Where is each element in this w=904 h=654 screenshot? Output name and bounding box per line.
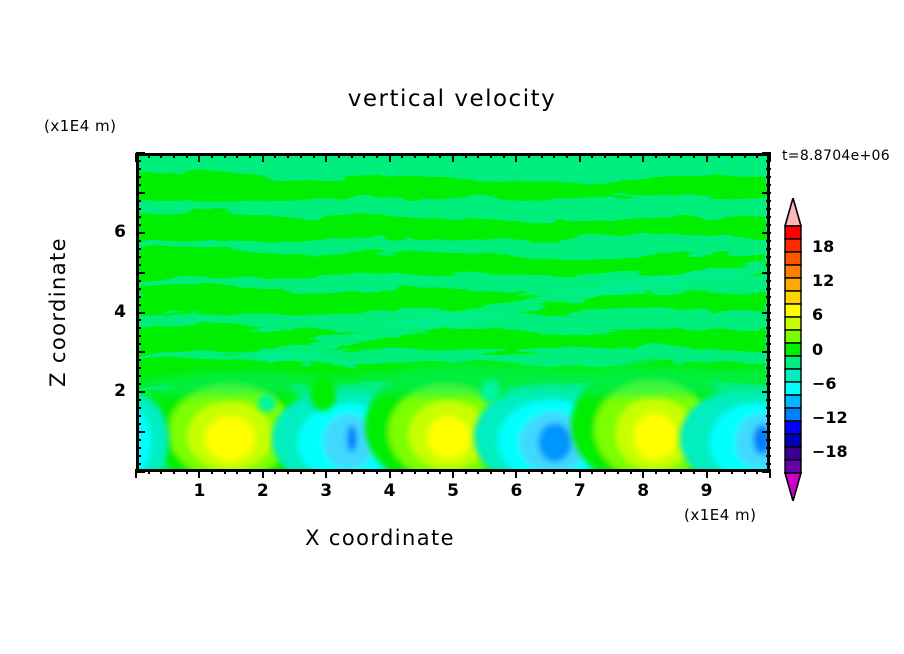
y-tick-minor (766, 248, 771, 250)
y-tick-major (762, 431, 771, 433)
y-tick-minor (766, 423, 771, 425)
x-tick-major (262, 153, 264, 162)
colorbar-band (785, 265, 801, 278)
x-tick-minor (731, 469, 733, 474)
x-tick-minor (718, 153, 720, 158)
y-tick-minor (766, 160, 771, 162)
colorbar-tick-label: 6 (812, 305, 872, 324)
x-tick-minor (477, 469, 479, 474)
colorbar-band (785, 330, 801, 343)
y-tick-minor (766, 327, 771, 329)
colorbar-band (785, 317, 801, 330)
x-unit-label: (x1E4 m) (684, 506, 757, 524)
y-tick-minor (766, 359, 771, 361)
x-tick-minor (338, 469, 340, 474)
colorbar-band (785, 226, 801, 239)
x-tick-major (389, 153, 391, 162)
y-tick-minor (766, 216, 771, 218)
x-tick-major (706, 469, 708, 478)
y-tick-minor (136, 335, 141, 337)
figure-canvas: vertical velocity (x1E4 m) t=8.8704e+06 (0, 0, 904, 654)
colorbar-band (785, 291, 801, 304)
y-tick-minor (136, 184, 141, 186)
x-tick-minor (528, 153, 530, 158)
y-tick-major (762, 351, 771, 353)
y-tick-minor (136, 240, 141, 242)
y-tick-minor (136, 327, 141, 329)
x-tick-minor (427, 469, 429, 474)
x-tick-label: 2 (243, 481, 283, 501)
colorbar-tick-label: 0 (812, 340, 872, 359)
x-tick-minor (465, 153, 467, 158)
colorbar-band (785, 239, 801, 252)
x-tick-major (515, 469, 517, 478)
page-title: vertical velocity (0, 86, 904, 112)
y-tick-minor (136, 224, 141, 226)
x-tick-label: 3 (306, 481, 346, 501)
y-axis-ticks-left (136, 153, 146, 472)
x-tick-minor (490, 469, 492, 474)
y-tick-minor (136, 367, 141, 369)
colorbar-band (785, 252, 801, 265)
x-tick-major (198, 469, 200, 478)
x-tick-minor (313, 153, 315, 158)
y-tick-minor (136, 200, 141, 202)
x-tick-minor (756, 469, 758, 474)
x-tick-minor (439, 153, 441, 158)
y-tick-minor (766, 256, 771, 258)
x-tick-minor (376, 153, 378, 158)
x-tick-minor (363, 469, 365, 474)
x-tick-label: 8 (623, 481, 663, 501)
y-tick-major (762, 232, 771, 234)
x-tick-label: 5 (433, 481, 473, 501)
x-tick-minor (300, 469, 302, 474)
y-tick-minor (766, 383, 771, 385)
y-tick-minor (766, 288, 771, 290)
x-tick-minor (680, 469, 682, 474)
y-tick-major (136, 152, 145, 154)
x-tick-minor (224, 469, 226, 474)
x-tick-major (452, 469, 454, 478)
x-tick-minor (693, 153, 695, 158)
y-axis-ticks-right (761, 153, 771, 472)
x-axis-ticks-bottom (136, 469, 770, 479)
x-tick-label: 9 (687, 481, 727, 501)
x-tick-minor (287, 153, 289, 158)
colorbar-under-cap (785, 473, 801, 501)
x-tick-minor (160, 153, 162, 158)
y-tick-minor (766, 343, 771, 345)
y-tick-minor (766, 208, 771, 210)
y-tick-minor (766, 319, 771, 321)
colorbar-band (785, 278, 801, 291)
y-tick-minor (136, 256, 141, 258)
x-tick-minor (414, 469, 416, 474)
y-tick-minor (136, 176, 141, 178)
x-tick-minor (566, 153, 568, 158)
y-tick-minor (766, 296, 771, 298)
x-tick-minor (731, 153, 733, 158)
x-tick-minor (744, 469, 746, 474)
y-tick-minor (766, 224, 771, 226)
y-tick-major (762, 272, 771, 274)
x-tick-major (579, 153, 581, 162)
y-tick-major (136, 391, 145, 393)
y-tick-minor (136, 447, 141, 449)
colorbar (781, 198, 805, 514)
y-tick-minor (136, 423, 141, 425)
colorbar-band (785, 434, 801, 447)
y-tick-major (136, 471, 145, 473)
y-tick-minor (766, 455, 771, 457)
time-annotation: t=8.8704e+06 (782, 148, 890, 164)
y-tick-label: 2 (96, 381, 126, 401)
x-tick-minor (249, 153, 251, 158)
x-tick-minor (427, 153, 429, 158)
x-tick-minor (680, 153, 682, 158)
x-tick-minor (148, 469, 150, 474)
x-tick-minor (718, 469, 720, 474)
y-tick-minor (136, 463, 141, 465)
colorbar-band (785, 447, 801, 460)
y-tick-major (136, 431, 145, 433)
x-tick-minor (693, 469, 695, 474)
x-tick-minor (363, 153, 365, 158)
x-tick-major (325, 153, 327, 162)
colorbar-band (785, 369, 801, 382)
y-tick-minor (766, 415, 771, 417)
y-tick-minor (766, 439, 771, 441)
y-tick-major (762, 312, 771, 314)
y-tick-minor (766, 264, 771, 266)
x-tick-major (389, 469, 391, 478)
contour-plot-area (136, 153, 770, 472)
x-tick-minor (617, 153, 619, 158)
x-tick-minor (604, 469, 606, 474)
x-tick-minor (756, 153, 758, 158)
y-tick-minor (136, 383, 141, 385)
y-tick-minor (136, 280, 141, 282)
x-tick-minor (351, 153, 353, 158)
x-tick-minor (274, 153, 276, 158)
y-tick-major (136, 351, 145, 353)
x-tick-major (642, 469, 644, 478)
x-tick-minor (274, 469, 276, 474)
x-tick-minor (338, 153, 340, 158)
x-tick-major (452, 153, 454, 162)
x-tick-minor (186, 469, 188, 474)
y-tick-minor (136, 439, 141, 441)
y-tick-minor (766, 463, 771, 465)
colorbar-band (785, 395, 801, 408)
y-tick-label: 6 (96, 222, 126, 242)
x-tick-minor (591, 153, 593, 158)
x-tick-minor (503, 153, 505, 158)
colorbar-band (785, 460, 801, 473)
x-tick-minor (591, 469, 593, 474)
x-tick-minor (630, 153, 632, 158)
x-tick-minor (477, 153, 479, 158)
y-tick-minor (766, 367, 771, 369)
x-axis-ticks-top (136, 153, 770, 163)
wave-striations-a (139, 171, 767, 280)
x-tick-minor (186, 153, 188, 158)
x-tick-minor (617, 469, 619, 474)
y-tick-minor (136, 455, 141, 457)
x-tick-major (515, 153, 517, 162)
x-tick-minor (224, 153, 226, 158)
colorbar-tick-label: 12 (812, 271, 872, 290)
y-tick-minor (136, 296, 141, 298)
x-tick-minor (173, 153, 175, 158)
x-tick-minor (211, 469, 213, 474)
x-tick-minor (604, 153, 606, 158)
x-tick-minor (541, 153, 543, 158)
y-tick-minor (766, 184, 771, 186)
field-svg (139, 156, 767, 469)
x-tick-minor (313, 469, 315, 474)
x-tick-label: 1 (179, 481, 219, 501)
x-tick-minor (300, 153, 302, 158)
y-tick-label: 4 (96, 302, 126, 322)
colorbar-tick-label: −18 (812, 442, 872, 461)
x-axis-title: X coordinate (0, 526, 760, 550)
y-axis-title: Z coordinate (46, 212, 70, 412)
x-tick-label: 6 (496, 481, 536, 501)
y-tick-major (762, 192, 771, 194)
x-tick-minor (401, 469, 403, 474)
colorbar-band (785, 343, 801, 356)
x-tick-minor (553, 469, 555, 474)
x-tick-minor (376, 469, 378, 474)
x-tick-major (262, 469, 264, 478)
y-tick-minor (766, 280, 771, 282)
y-tick-major (136, 312, 145, 314)
y-tick-major (762, 471, 771, 473)
y-tick-minor (766, 335, 771, 337)
x-tick-minor (490, 153, 492, 158)
colorbar-tick-label: −12 (812, 408, 872, 427)
colorbar-over-cap (785, 198, 801, 226)
y-tick-minor (136, 160, 141, 162)
x-tick-minor (655, 469, 657, 474)
colorbar-tick-label: −6 (812, 374, 872, 393)
x-tick-label: 4 (370, 481, 410, 501)
x-tick-minor (553, 153, 555, 158)
x-tick-minor (668, 469, 670, 474)
x-tick-minor (160, 469, 162, 474)
colorbar-band (785, 304, 801, 317)
y-tick-minor (136, 399, 141, 401)
y-tick-minor (136, 304, 141, 306)
x-tick-minor (465, 469, 467, 474)
y-tick-minor (766, 304, 771, 306)
x-tick-minor (173, 469, 175, 474)
x-tick-minor (439, 469, 441, 474)
y-tick-major (136, 272, 145, 274)
y-tick-minor (136, 359, 141, 361)
y-unit-label: (x1E4 m) (44, 117, 117, 135)
x-tick-minor (566, 469, 568, 474)
y-tick-minor (136, 415, 141, 417)
y-tick-minor (766, 375, 771, 377)
y-tick-major (762, 391, 771, 393)
colorbar-tick-label: 18 (812, 237, 872, 256)
y-tick-minor (766, 407, 771, 409)
y-tick-minor (766, 176, 771, 178)
x-tick-minor (236, 153, 238, 158)
x-tick-minor (541, 469, 543, 474)
x-tick-minor (744, 153, 746, 158)
x-tick-minor (630, 469, 632, 474)
colorbar-band (785, 408, 801, 421)
x-tick-major (325, 469, 327, 478)
x-tick-minor (148, 153, 150, 158)
x-tick-minor (249, 469, 251, 474)
y-tick-minor (136, 288, 141, 290)
x-tick-minor (287, 469, 289, 474)
colorbar-svg (781, 198, 805, 501)
y-tick-major (762, 152, 771, 154)
x-tick-major (198, 153, 200, 162)
y-tick-minor (766, 399, 771, 401)
x-tick-minor (668, 153, 670, 158)
y-tick-minor (766, 168, 771, 170)
y-tick-minor (136, 168, 141, 170)
y-tick-minor (766, 447, 771, 449)
y-tick-minor (136, 407, 141, 409)
colorbar-band (785, 356, 801, 369)
y-tick-minor (136, 216, 141, 218)
y-tick-minor (136, 319, 141, 321)
velocity-field (139, 156, 767, 469)
y-tick-minor (136, 264, 141, 266)
y-tick-minor (136, 248, 141, 250)
x-tick-minor (528, 469, 530, 474)
y-tick-minor (136, 343, 141, 345)
x-tick-minor (236, 469, 238, 474)
x-tick-minor (211, 153, 213, 158)
x-tick-major (579, 469, 581, 478)
y-tick-minor (766, 200, 771, 202)
x-tick-major (642, 153, 644, 162)
x-tick-label: 7 (560, 481, 600, 501)
y-tick-minor (136, 375, 141, 377)
y-tick-major (136, 232, 145, 234)
x-tick-minor (401, 153, 403, 158)
colorbar-band (785, 382, 801, 395)
colorbar-band (785, 421, 801, 434)
x-tick-major (706, 153, 708, 162)
x-tick-minor (655, 153, 657, 158)
x-tick-minor (351, 469, 353, 474)
y-tick-minor (766, 240, 771, 242)
y-tick-minor (136, 208, 141, 210)
y-tick-major (136, 192, 145, 194)
x-tick-minor (414, 153, 416, 158)
x-tick-minor (503, 469, 505, 474)
